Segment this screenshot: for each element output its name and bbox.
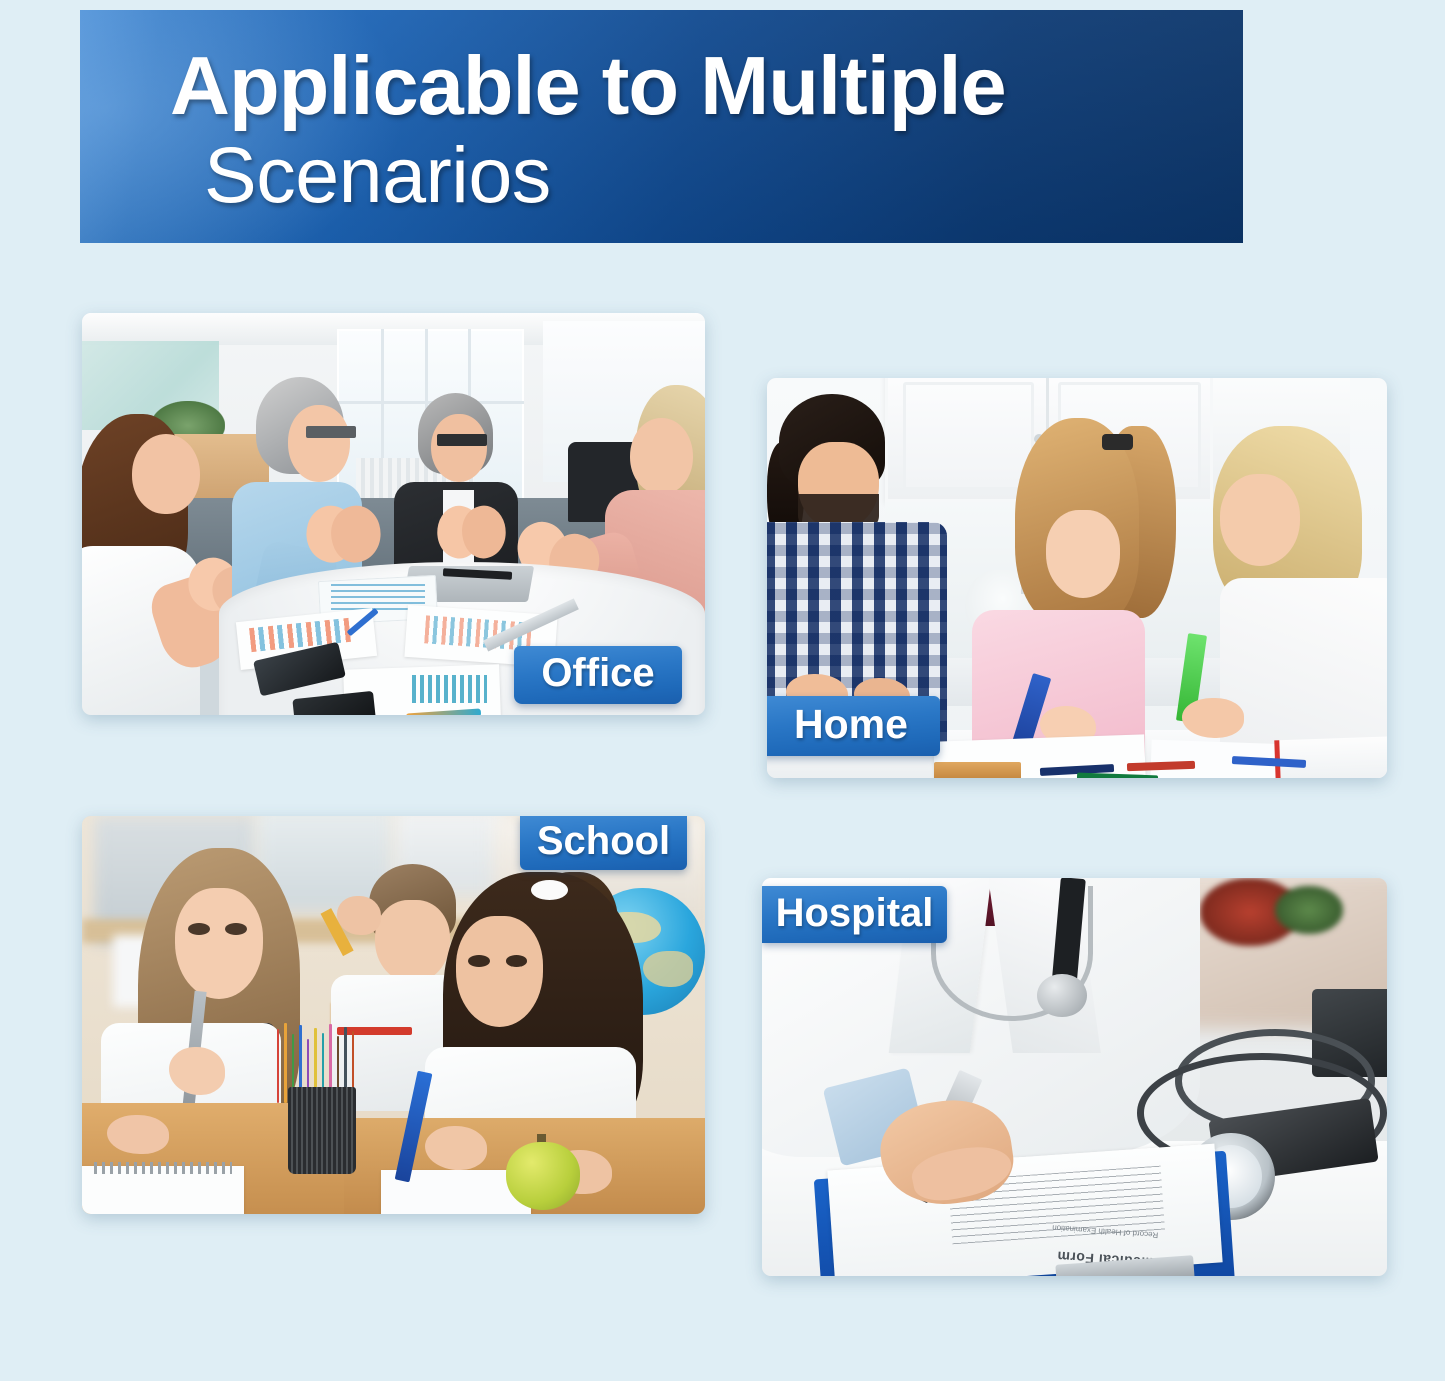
scenario-card-hospital[interactable]: Record of Health Examination Medical For… — [762, 878, 1387, 1276]
page-title-line-1: Applicable to Multiple — [170, 44, 1006, 129]
scenario-label-hospital: Hospital — [762, 886, 947, 943]
scenario-card-home[interactable]: Home — [767, 378, 1387, 778]
scenario-label-home: Home — [767, 696, 940, 756]
school-photo — [82, 816, 705, 1214]
scenario-card-office[interactable]: Office — [82, 313, 705, 715]
pencil-cup — [288, 1087, 357, 1175]
page-title: Applicable to Multiple Scenarios — [170, 44, 1006, 215]
apple — [506, 1142, 581, 1210]
scenario-card-school[interactable]: School — [82, 816, 705, 1214]
scenario-label-school: School — [520, 816, 687, 870]
header-banner: Applicable to Multiple Scenarios — [80, 10, 1243, 243]
page-title-line-2: Scenarios — [204, 135, 1006, 216]
scenario-label-office: Office — [514, 646, 682, 704]
